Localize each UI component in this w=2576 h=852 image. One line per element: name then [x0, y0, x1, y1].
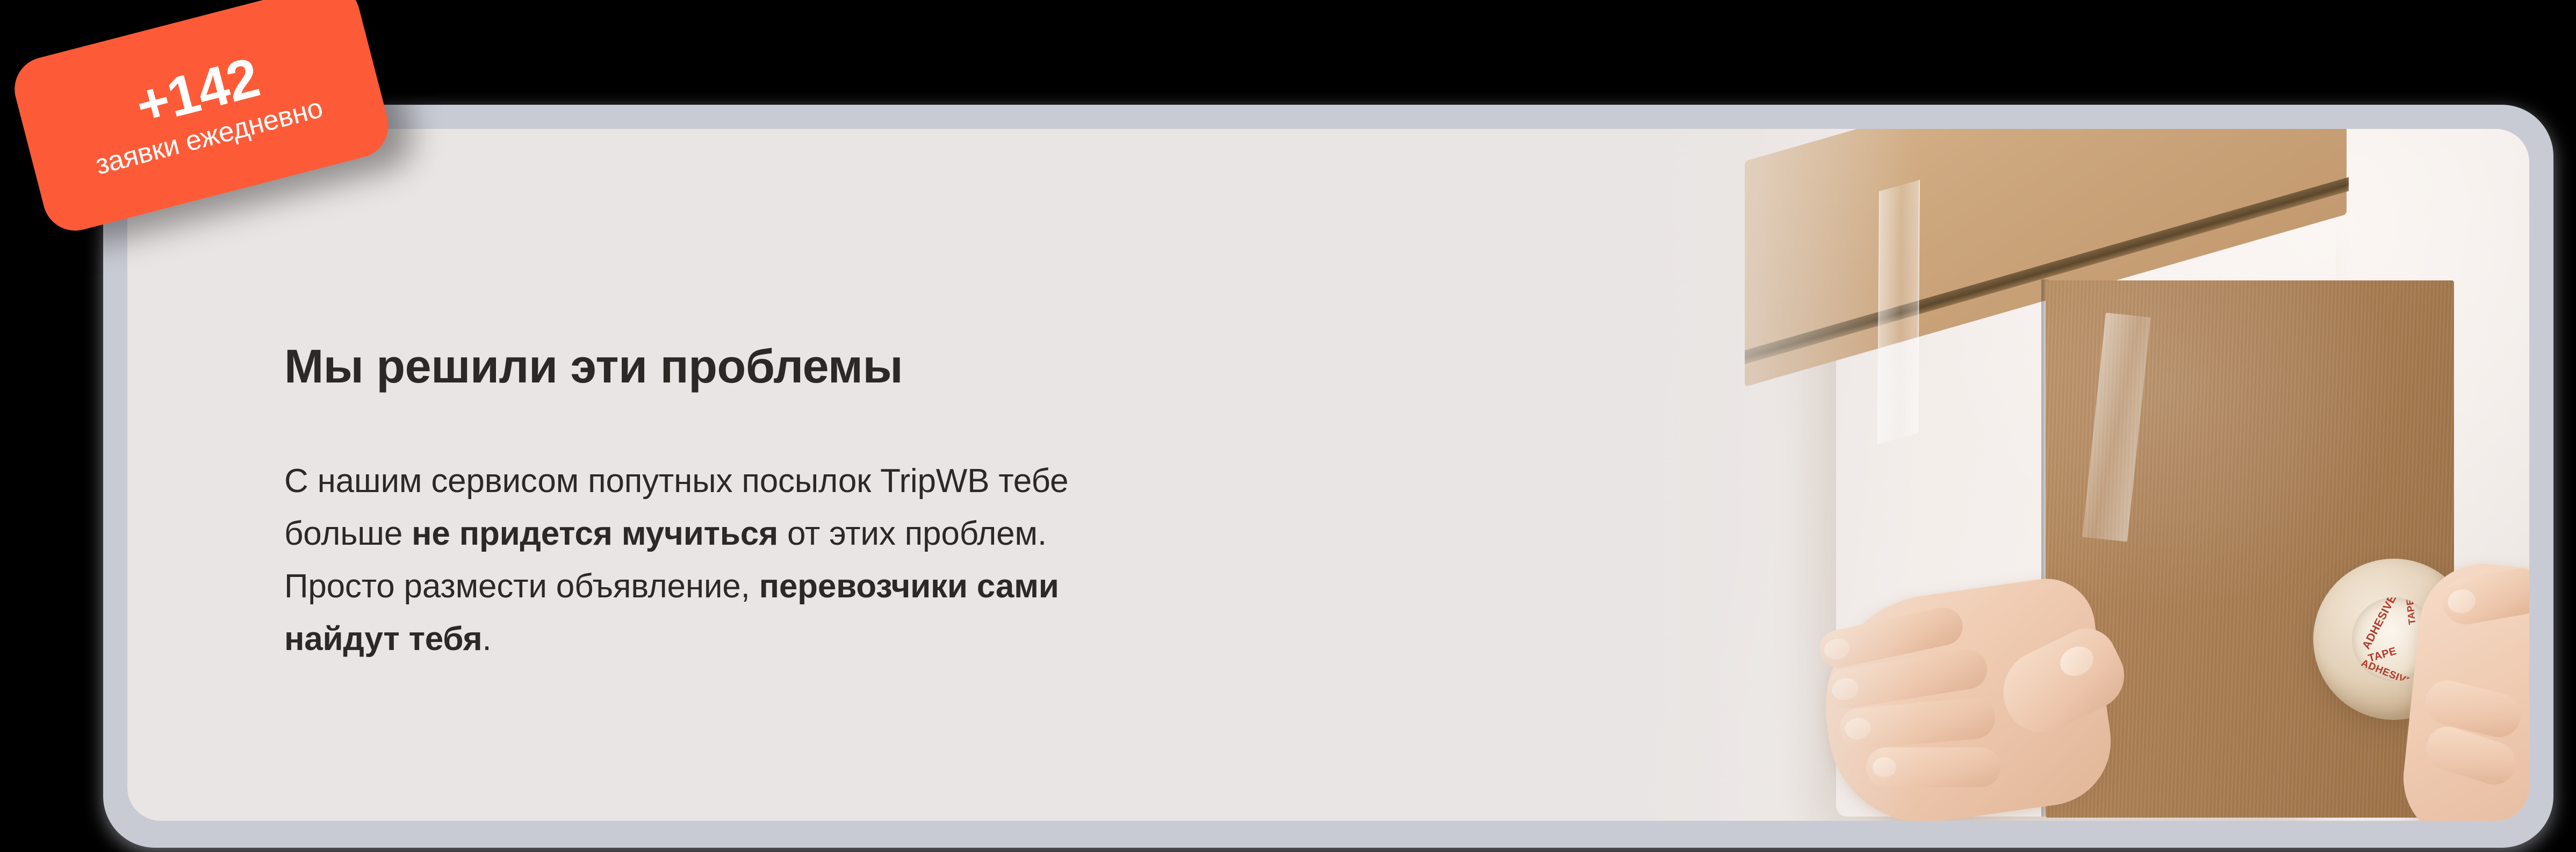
- photo-left-fade: [1584, 129, 1917, 821]
- tape-label-text: TAPE: [2404, 598, 2418, 625]
- description-segment: .: [482, 620, 491, 658]
- tape-label-text: ADHESIVE: [2360, 597, 2399, 652]
- thumb-right: [2439, 565, 2529, 628]
- feature-card-panel: ADHESIVE TAPE ADHESIVE TAPE: [127, 129, 2529, 821]
- packing-photo: ADHESIVE TAPE ADHESIVE TAPE: [1584, 129, 2529, 821]
- promo-banner: ADHESIVE TAPE ADHESIVE TAPE: [0, 0, 2576, 852]
- card-description: С нашим сервисом попутных посылок TripWB…: [284, 455, 1085, 666]
- description-highlight-1: не придется мучиться: [412, 515, 778, 552]
- thumbnail: [2055, 641, 2098, 681]
- tape-label-text: ADHESIVE: [2359, 658, 2414, 681]
- feature-card: ADHESIVE TAPE ADHESIVE TAPE: [103, 105, 2553, 848]
- thumbnail: [2446, 587, 2478, 615]
- card-content: Мы решили эти проблемы С нашим сервисом …: [284, 129, 1305, 821]
- page-title: Мы решили эти проблемы: [284, 342, 903, 391]
